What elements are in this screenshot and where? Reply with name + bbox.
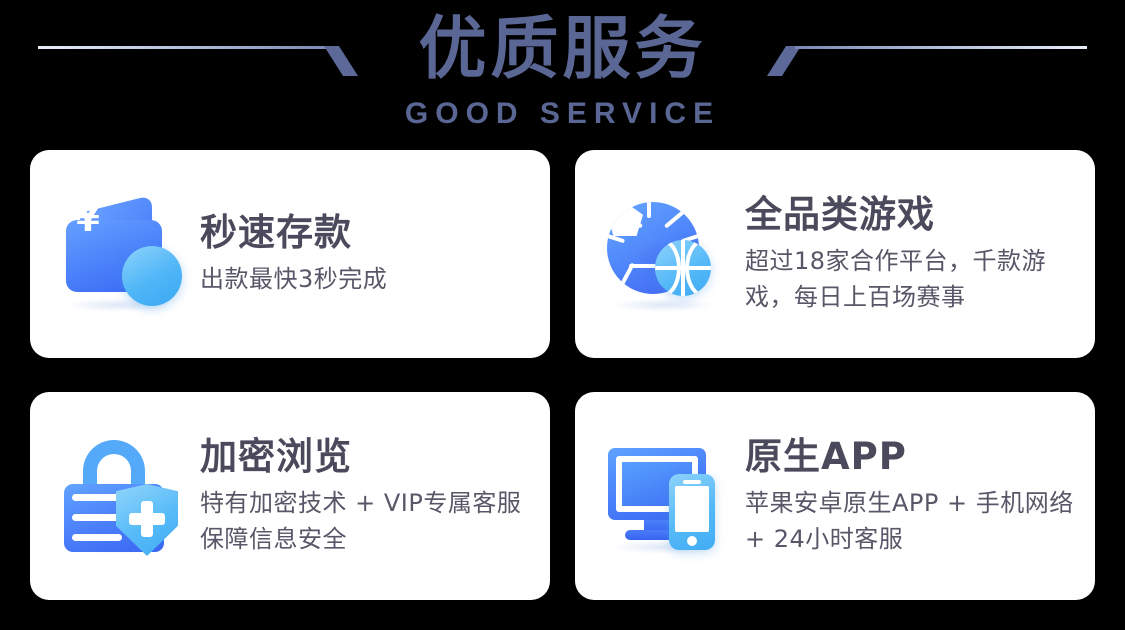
feature-card-grid: ¥ 秒速存款 出款最快3秒完成 <box>30 150 1095 600</box>
card-description: 超过18家合作平台，千款游戏，每日上百场赛事 <box>745 243 1075 315</box>
basketball-seam <box>655 240 681 296</box>
plus-icon <box>129 513 165 525</box>
soccer-seam <box>647 202 651 218</box>
feature-card-games[interactable]: 全品类游戏 超过18家合作平台，千款游戏，每日上百场赛事 <box>575 150 1095 358</box>
monitor-phone-icon <box>603 432 731 560</box>
feature-card-deposit[interactable]: ¥ 秒速存款 出款最快3秒完成 <box>30 150 550 358</box>
feature-card-encryption[interactable]: 加密浏览 特有加密技术 + VIP专属客服保障信息安全 <box>30 392 550 600</box>
lock-shield-icon <box>58 432 186 560</box>
lock-stripe <box>72 534 122 541</box>
banner-header: 优质服务 GOOD SERVICE <box>0 0 1125 145</box>
page-subtitle: GOOD SERVICE <box>0 96 1125 132</box>
phone-speaker <box>683 480 701 484</box>
card-text: 秒速存款 出款最快3秒完成 <box>200 211 530 297</box>
card-text: 全品类游戏 超过18家合作平台，千款游戏，每日上百场赛事 <box>745 193 1075 315</box>
feature-card-native-app[interactable]: 原生APP 苹果安卓原生APP + 手机网络 + 24小时客服 <box>575 392 1095 600</box>
card-text: 加密浏览 特有加密技术 + VIP专属客服保障信息安全 <box>200 435 530 557</box>
good-service-banner: 优质服务 GOOD SERVICE ¥ 秒速存款 出款最快3秒完成 <box>0 0 1125 630</box>
card-description: 特有加密技术 + VIP专属客服保障信息安全 <box>200 485 530 557</box>
soccer-pentagon <box>607 202 643 236</box>
card-description: 出款最快3秒完成 <box>200 261 530 297</box>
yen-symbol: ¥ <box>58 190 118 250</box>
lock-stripe <box>72 494 122 501</box>
phone-screen <box>675 486 709 532</box>
card-title: 原生APP <box>745 435 1075 479</box>
page-title: 优质服务 <box>0 8 1125 92</box>
card-text: 原生APP 苹果安卓原生APP + 手机网络 + 24小时客服 <box>745 435 1075 557</box>
card-title: 全品类游戏 <box>745 193 1075 237</box>
soccer-basketball-icon <box>603 190 731 318</box>
wallet-yen-icon: ¥ <box>58 190 186 318</box>
soccer-seam <box>664 207 688 228</box>
basketball-icon <box>655 240 711 296</box>
card-description: 苹果安卓原生APP + 手机网络 + 24小时客服 <box>745 485 1075 557</box>
basketball-seam <box>685 240 711 296</box>
card-title: 加密浏览 <box>200 435 530 479</box>
card-title: 秒速存款 <box>200 211 530 255</box>
yen-coin-icon <box>122 246 182 306</box>
phone-home-button <box>687 536 697 546</box>
icon-shadow <box>611 298 715 312</box>
